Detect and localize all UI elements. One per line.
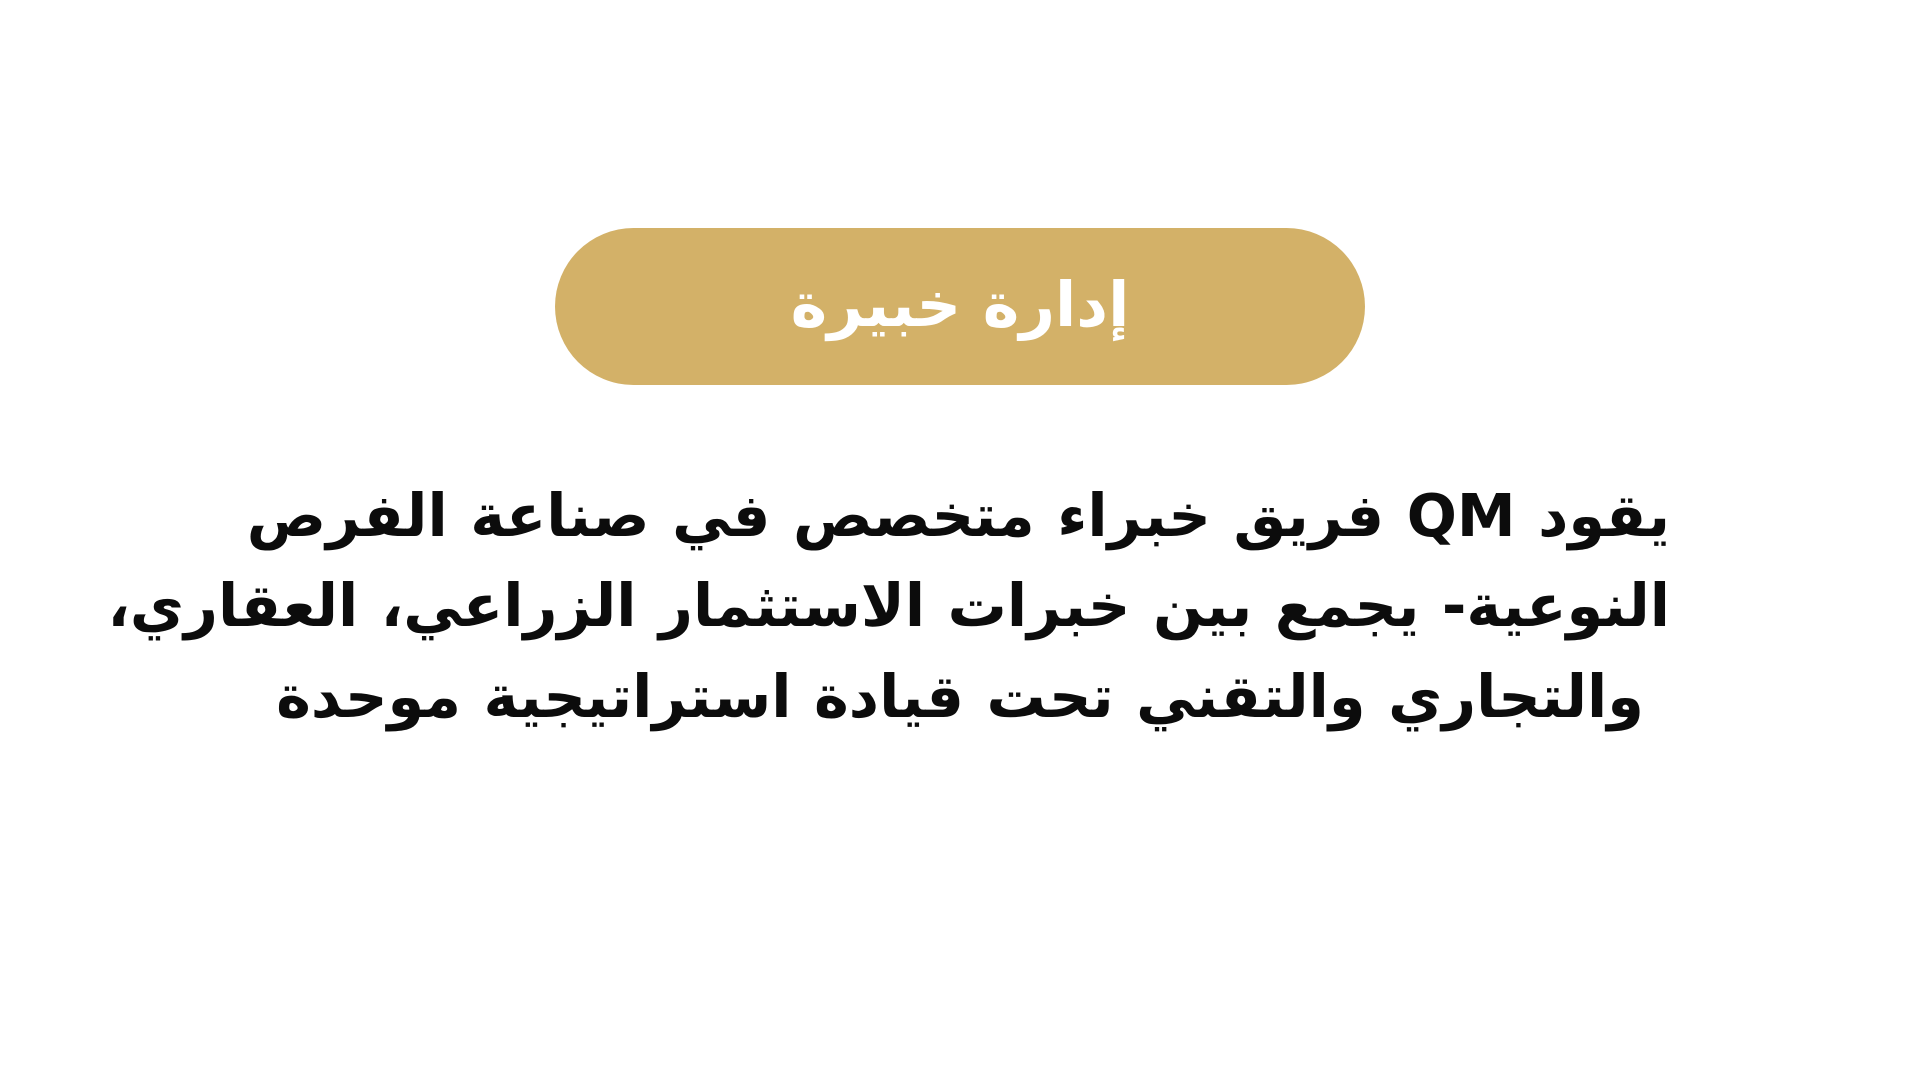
badge-label: إدارة خبيرة — [791, 274, 1130, 336]
slide-root: إدارة خبيرة يقود QM فريق خبراء متخصص في … — [0, 0, 1920, 1080]
body-line-3: والتجاري والتقني تحت قيادة استراتيجية مو… — [250, 652, 1670, 742]
badge-row: إدارة خبيرة — [0, 228, 1920, 385]
expert-management-badge[interactable]: إدارة خبيرة — [555, 228, 1365, 385]
body-line-1: يقود QM فريق خبراء متخصص في صناعة الفرص — [250, 471, 1670, 561]
body-line-2: النوعية- يجمع بين خبرات الاستثمار الزراع… — [250, 561, 1670, 651]
body-paragraph: يقود QM فريق خبراء متخصص في صناعة الفرص … — [250, 471, 1670, 742]
